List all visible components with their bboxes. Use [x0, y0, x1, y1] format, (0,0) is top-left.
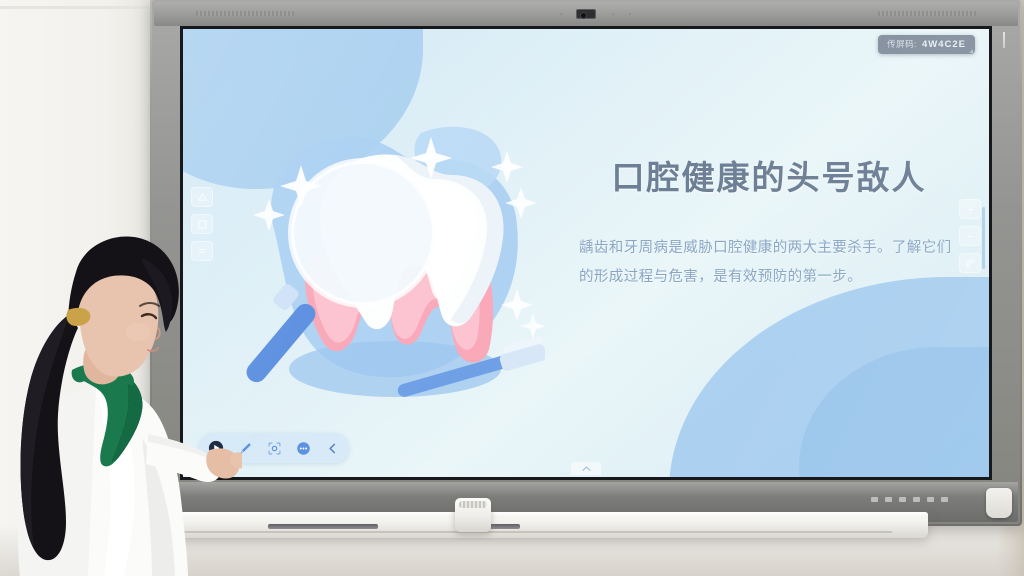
classroom-scene: 口腔健康的头号敌人 龋齿和牙周病是威胁口腔健康的两大主要杀手。了解它们的形成过程… [0, 0, 1024, 576]
bezel-button[interactable] [885, 497, 892, 502]
more-icon[interactable] [295, 440, 311, 456]
tooth-illustration [223, 107, 573, 457]
mount-cable [1003, 32, 1005, 48]
rail-button-4[interactable] [959, 199, 981, 219]
camera-module [576, 9, 596, 19]
bezel-button[interactable] [941, 497, 948, 502]
chevron-up-icon [581, 465, 592, 472]
vertical-scrollbar[interactable] [982, 207, 985, 269]
bezel-control-buttons[interactable] [871, 497, 948, 502]
camera-lens [581, 13, 586, 18]
tooth-illustration-art [245, 113, 545, 413]
plus-icon [965, 204, 976, 215]
cast-code-value: 4W4C2E [922, 39, 966, 50]
badge-resize-corner[interactable] [969, 49, 973, 53]
presenter-figure [0, 228, 242, 576]
chevron-left-icon[interactable] [324, 440, 340, 456]
minus-icon [965, 231, 976, 242]
bezel-button[interactable] [913, 497, 920, 502]
bezel-button[interactable] [899, 497, 906, 502]
bottom-panel-handle[interactable] [571, 462, 601, 475]
bezel-gloss [154, 482, 1018, 496]
bezel-button[interactable] [927, 497, 934, 502]
interactive-flat-panel[interactable]: 口腔健康的头号敌人 龋齿和牙周病是威胁口腔健康的两大主要杀手。了解它们的形成过程… [150, 0, 1022, 526]
rail-button-6[interactable] [959, 253, 981, 273]
triangle-icon [197, 192, 208, 203]
right-side-rail[interactable] [959, 199, 981, 273]
cast-code-label: 传屏码: [887, 38, 917, 50]
bezel-dot [612, 13, 614, 15]
bezel-dot [560, 13, 562, 15]
slide-title: 口腔健康的头号敌人 [579, 157, 959, 198]
bezel-button[interactable] [871, 497, 878, 502]
rail-button-5[interactable] [959, 226, 981, 246]
wall-trim [0, 6, 158, 9]
presentation-slide[interactable]: 口腔健康的头号敌人 龋齿和牙周病是威胁口腔健康的两大主要杀手。了解它们的形成过程… [183, 29, 989, 477]
wall-mount-bracket [986, 488, 1012, 518]
bezel-dot [629, 13, 631, 15]
presenter [0, 228, 242, 576]
speaker-grille-left [196, 11, 294, 16]
focus-frame-icon[interactable] [266, 440, 282, 456]
grid-icon [965, 258, 976, 269]
display-screen[interactable]: 口腔健康的头号敌人 龋齿和牙周病是威胁口腔健康的两大主要杀手。了解它们的形成过程… [180, 26, 992, 480]
eraser-felt [459, 501, 487, 508]
rail-button-1[interactable] [191, 187, 213, 207]
top-bezel [154, 2, 1018, 26]
slide-body-text: 龋齿和牙周病是威胁口腔健康的两大主要杀手。了解它们的形成过程与危害，是有效预防的… [579, 234, 959, 292]
speaker-grille-right [878, 11, 976, 16]
slide-text-column: 口腔健康的头号敌人 龋齿和牙周病是威胁口腔健康的两大主要杀手。了解它们的形成过程… [579, 157, 959, 292]
screen-cast-code-badge[interactable]: 传屏码: 4W4C2E [878, 35, 975, 54]
